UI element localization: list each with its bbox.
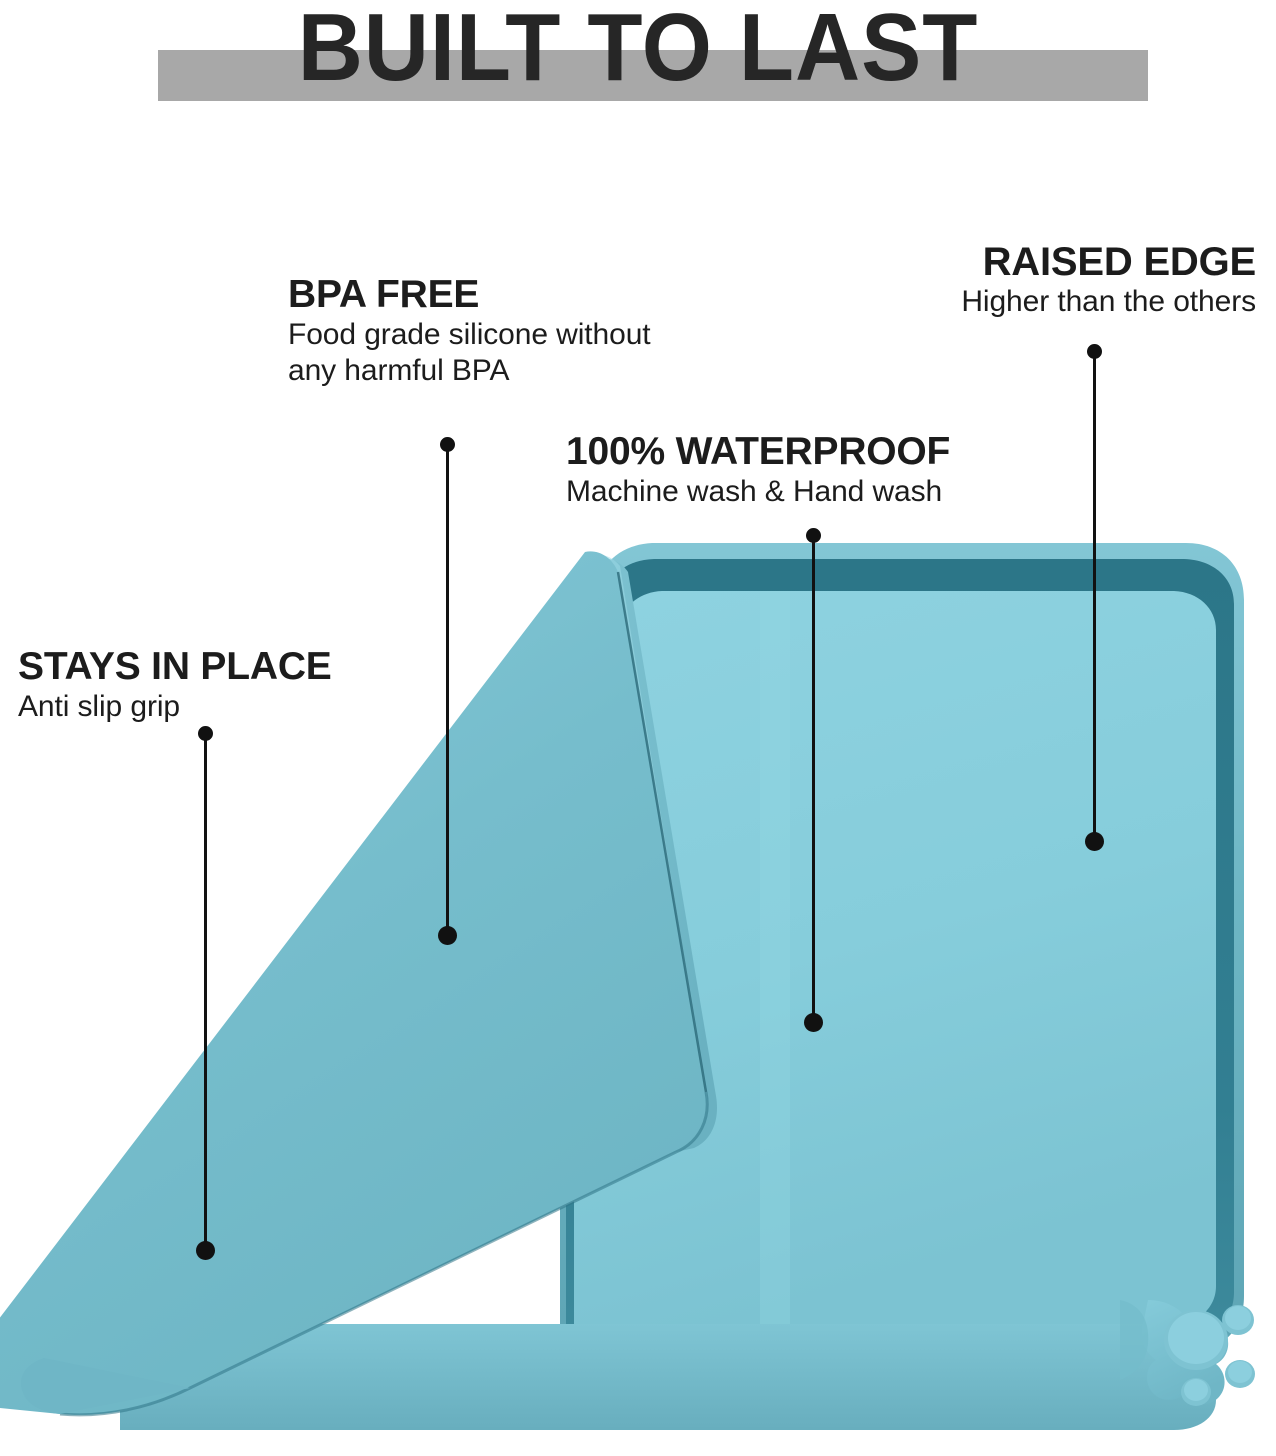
product-illustration (0, 0, 1276, 1456)
mat-fold-crease-highlight (586, 554, 707, 1146)
callout-bpa-free-headline: BPA FREE (288, 273, 678, 317)
callout-bpa-free-subline: Food grade silicone without any harmful … (288, 317, 678, 389)
mat-fold-inner-seam (618, 572, 706, 1092)
mat-fold-tip (21, 1358, 190, 1414)
raised-edge-inner-shadow (566, 559, 1234, 1338)
raised-edge-outer (560, 543, 1244, 1352)
mat-fold-back-face (596, 559, 717, 1171)
callout-bpa-free: BPA FREE Food grade silicone without any… (288, 273, 678, 389)
callout-raised-edge-subline: Higher than the others (961, 284, 1256, 320)
mat-surface-sheen (760, 591, 790, 1324)
leader-line-stays-in-place (204, 733, 207, 1250)
leader-dot-icon (804, 1013, 823, 1032)
leader-dot-icon (438, 926, 457, 945)
callout-stays-in-place: STAYS IN PLACE Anti slip grip (18, 645, 332, 725)
mat-fold-edge-line (60, 1092, 707, 1415)
callout-waterproof: 100% WATERPROOF Machine wash & Hand wash (566, 430, 950, 510)
callout-waterproof-subline: Machine wash & Hand wash (566, 474, 950, 510)
callout-waterproof-headline: 100% WATERPROOF (566, 430, 950, 474)
callout-raised-edge-headline: RAISED EDGE (961, 240, 1256, 284)
leader-dot-icon (196, 1241, 215, 1260)
leader-line-waterproof (812, 535, 815, 1022)
leader-line-bpa-free (446, 444, 449, 935)
paw-print-tab-icon (1120, 1300, 1255, 1406)
callout-raised-edge: RAISED EDGE Higher than the others (961, 240, 1256, 320)
product-infographic: BUILT TO LAST RAISED EDGE Higher than th… (0, 0, 1276, 1456)
callout-stays-in-place-headline: STAYS IN PLACE (18, 645, 332, 689)
callout-stays-in-place-subline: Anti slip grip (18, 689, 332, 725)
page-title: BUILT TO LAST (38, 0, 1237, 100)
title-block: BUILT TO LAST (0, 0, 1276, 112)
leader-line-raised-edge (1093, 351, 1096, 841)
leader-dot-icon (1085, 832, 1104, 851)
mat-front-lip (120, 1324, 1216, 1430)
mat-surface (574, 591, 1216, 1324)
